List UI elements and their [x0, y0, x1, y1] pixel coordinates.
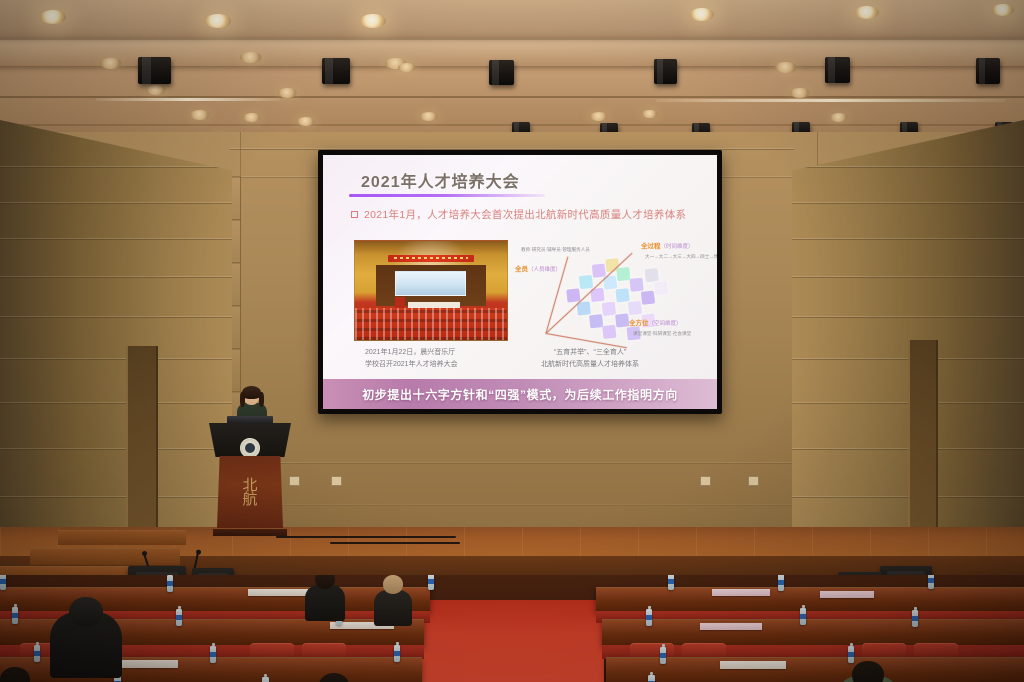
slide-bottom-banner: 初步提出十六字方针和“四强”模式，为后续工作指明方向: [323, 379, 717, 409]
slide-diagram: 全员（人员维度） 教师·研究员·辅导员·管理服务人员 全过程（时间维度） 大一→…: [513, 235, 713, 347]
downlight-icon: [243, 113, 261, 122]
stage-cable: [276, 536, 456, 538]
downlight-icon: [992, 4, 1014, 16]
center-aisle-carpet: [422, 600, 604, 682]
slide-title: 2021年人才培养大会: [361, 168, 520, 192]
audience-member: [836, 661, 900, 682]
downlight-icon: [360, 14, 386, 28]
downlight-icon: [278, 88, 297, 98]
ceiling-light-strip: [96, 98, 280, 101]
water-bottle: [0, 575, 6, 590]
slide-caption-right: “五育并举”、“三全育人” 北航新时代高质量人才培养体系: [541, 347, 639, 371]
projection-screen: 2021年人才培养大会 2021年1月，人才培养大会首次提出北航新时代高质量人才…: [318, 150, 722, 414]
university-seal-icon: [240, 438, 260, 458]
podium-glyph: 北 航: [242, 478, 257, 507]
water-bottle: [176, 609, 182, 626]
water-bottle: [394, 645, 400, 662]
slide-banner-text: 初步提出十六字方针和“四强”模式，为后续工作指明方向: [362, 386, 678, 403]
stage-step: [30, 548, 180, 565]
downlight-icon: [240, 52, 262, 63]
auditorium-seat: [302, 643, 346, 657]
downlight-icon: [790, 88, 810, 98]
stage-cable: [330, 542, 460, 544]
spotlight-fixture-icon: [322, 58, 350, 84]
auditorium-seat: [250, 643, 294, 657]
downlight-icon: [146, 85, 166, 95]
audience-member: [50, 597, 122, 679]
auditorium-seat: [914, 643, 958, 657]
diagram-sub-all-round: 课堂课堂·科研课堂·社会课堂: [633, 331, 691, 337]
audience-member: [374, 575, 412, 621]
downlight-icon: [205, 14, 231, 28]
diagram-label-all-people: 全员（人员维度）: [515, 263, 561, 273]
handout-paper: [712, 589, 770, 596]
water-bottle: [12, 607, 18, 624]
ceiling-light-strip: [656, 99, 1006, 102]
desk-row: [606, 657, 1024, 682]
spotlight-fixture-icon: [138, 57, 171, 84]
water-bottle: [800, 608, 806, 625]
downlight-icon: [855, 6, 879, 19]
water-bottle: [167, 575, 173, 592]
water-bottle: [928, 575, 934, 589]
diagram-sub-all-people: 教师·研究员·辅导员·管理服务人员: [521, 247, 590, 253]
laptop-icon: [227, 416, 273, 424]
water-bottle: [646, 609, 652, 626]
downlight-icon: [40, 10, 66, 24]
downlight-icon: [398, 63, 416, 72]
audience-area: [0, 575, 1024, 682]
stage-step: [58, 530, 186, 545]
water-bottle: [34, 645, 40, 662]
wall-outlet: [748, 476, 759, 486]
slide-embedded-photo: [354, 240, 508, 341]
auditorium-seat: [862, 643, 906, 657]
auditorium-seat: [630, 643, 674, 657]
audience-member: [0, 667, 44, 682]
spotlight-fixture-icon: [654, 59, 677, 84]
downlight-icon: [775, 62, 797, 73]
handout-paper: [820, 591, 874, 598]
audience-member: [304, 673, 364, 682]
diagram-label-all-round: 全方位（空间维度）: [629, 317, 682, 327]
diagram-sub-all-process: 大一→大二→大三→大四→硕士→博士: [645, 254, 717, 260]
auditorium-seat: [682, 643, 726, 657]
right-doorway: [908, 340, 938, 552]
downlight-icon: [190, 110, 210, 120]
wall-outlet: [331, 476, 342, 486]
left-side-wall: [0, 120, 232, 580]
slide-bullet-text: 2021年1月，人才培养大会首次提出北航新时代高质量人才培养体系: [364, 207, 686, 222]
bullet-square-icon: [351, 211, 358, 218]
spotlight-fixture-icon: [489, 60, 514, 85]
audience-member: [305, 575, 345, 618]
water-bottle: [660, 647, 666, 664]
water-bottle: [912, 610, 918, 627]
slide-caption-left: 2021年1月22日，晨兴音乐厅 学校召开2021年人才培养大会: [365, 347, 458, 371]
downlight-icon: [642, 110, 658, 118]
water-bottle: [778, 575, 784, 591]
downlight-icon: [100, 58, 122, 69]
water-bottle: [668, 575, 674, 590]
slide-bullet-row: 2021年1月，人才培养大会首次提出北航新时代高质量人才培养体系: [351, 207, 705, 222]
water-bottle: [428, 575, 434, 590]
downlight-icon: [297, 117, 315, 126]
water-bottle: [262, 677, 269, 682]
conference-hall-photo: 2021年人才培养大会 2021年1月，人才培养大会首次提出北航新时代高质量人才…: [0, 0, 1024, 682]
handout-paper: [700, 623, 762, 630]
downlight-icon: [690, 8, 714, 21]
water-bottle: [210, 646, 216, 663]
presentation-slide: 2021年人才培养大会 2021年1月，人才培养大会首次提出北航新时代高质量人才…: [323, 155, 717, 409]
desk-row: [602, 619, 1024, 646]
diagram-label-all-process: 全过程（时间维度）: [641, 240, 694, 250]
desk-row: [596, 587, 1024, 612]
title-underline: [349, 194, 545, 197]
wall-outlet: [700, 476, 711, 486]
spotlight-fixture-icon: [976, 58, 1000, 84]
downlight-icon: [590, 112, 608, 121]
downlight-icon: [830, 113, 848, 122]
downlight-icon: [420, 112, 438, 121]
speaker-podium: 北 航: [209, 423, 291, 536]
handout-paper: [720, 661, 786, 669]
handout-paper: [248, 589, 308, 596]
spotlight-fixture-icon: [825, 57, 850, 83]
water-bottle: [648, 675, 655, 682]
